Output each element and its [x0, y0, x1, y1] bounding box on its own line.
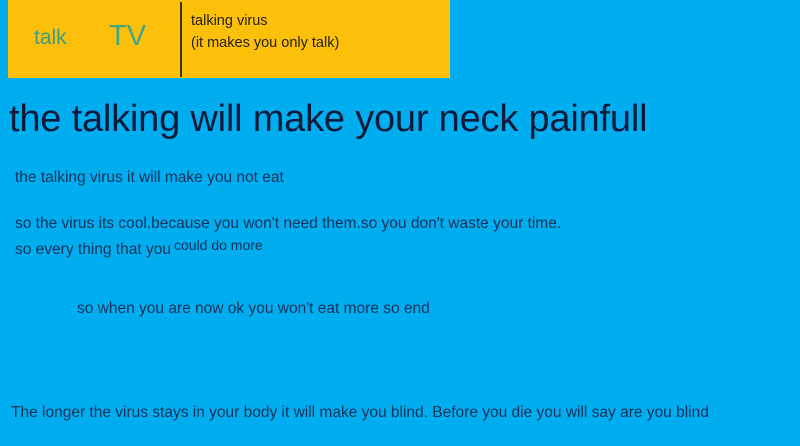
body-line-1: the talking virus it will make you not e… — [15, 170, 284, 186]
logo-word-tv: TV — [109, 22, 146, 51]
body-line-2: so the virus its cool.because you won't … — [15, 216, 561, 232]
body-line-3-main: so every thing that you — [15, 241, 171, 258]
body-line-3-raised: could do more — [174, 237, 263, 253]
body-line-4: so when you are now ok you won't eat mor… — [77, 301, 430, 317]
logo-caption: talking virus (it makes you only talk) — [191, 10, 441, 54]
body-line-5: The longer the virus stays in your body … — [11, 405, 709, 421]
logo-caption-line-2: (it makes you only talk) — [191, 32, 441, 54]
slide-canvas: talk TV talking virus (it makes you only… — [0, 0, 800, 446]
logo-caption-line-1: talking virus — [191, 10, 441, 32]
page-title: the talking will make your neck painfull — [9, 100, 647, 138]
logo-header-box: talk TV talking virus (it makes you only… — [8, 0, 450, 78]
logo-divider — [180, 2, 182, 77]
logo-word-talk: talk — [34, 27, 67, 48]
body-line-3: so every thing that youcould do more — [15, 242, 263, 258]
